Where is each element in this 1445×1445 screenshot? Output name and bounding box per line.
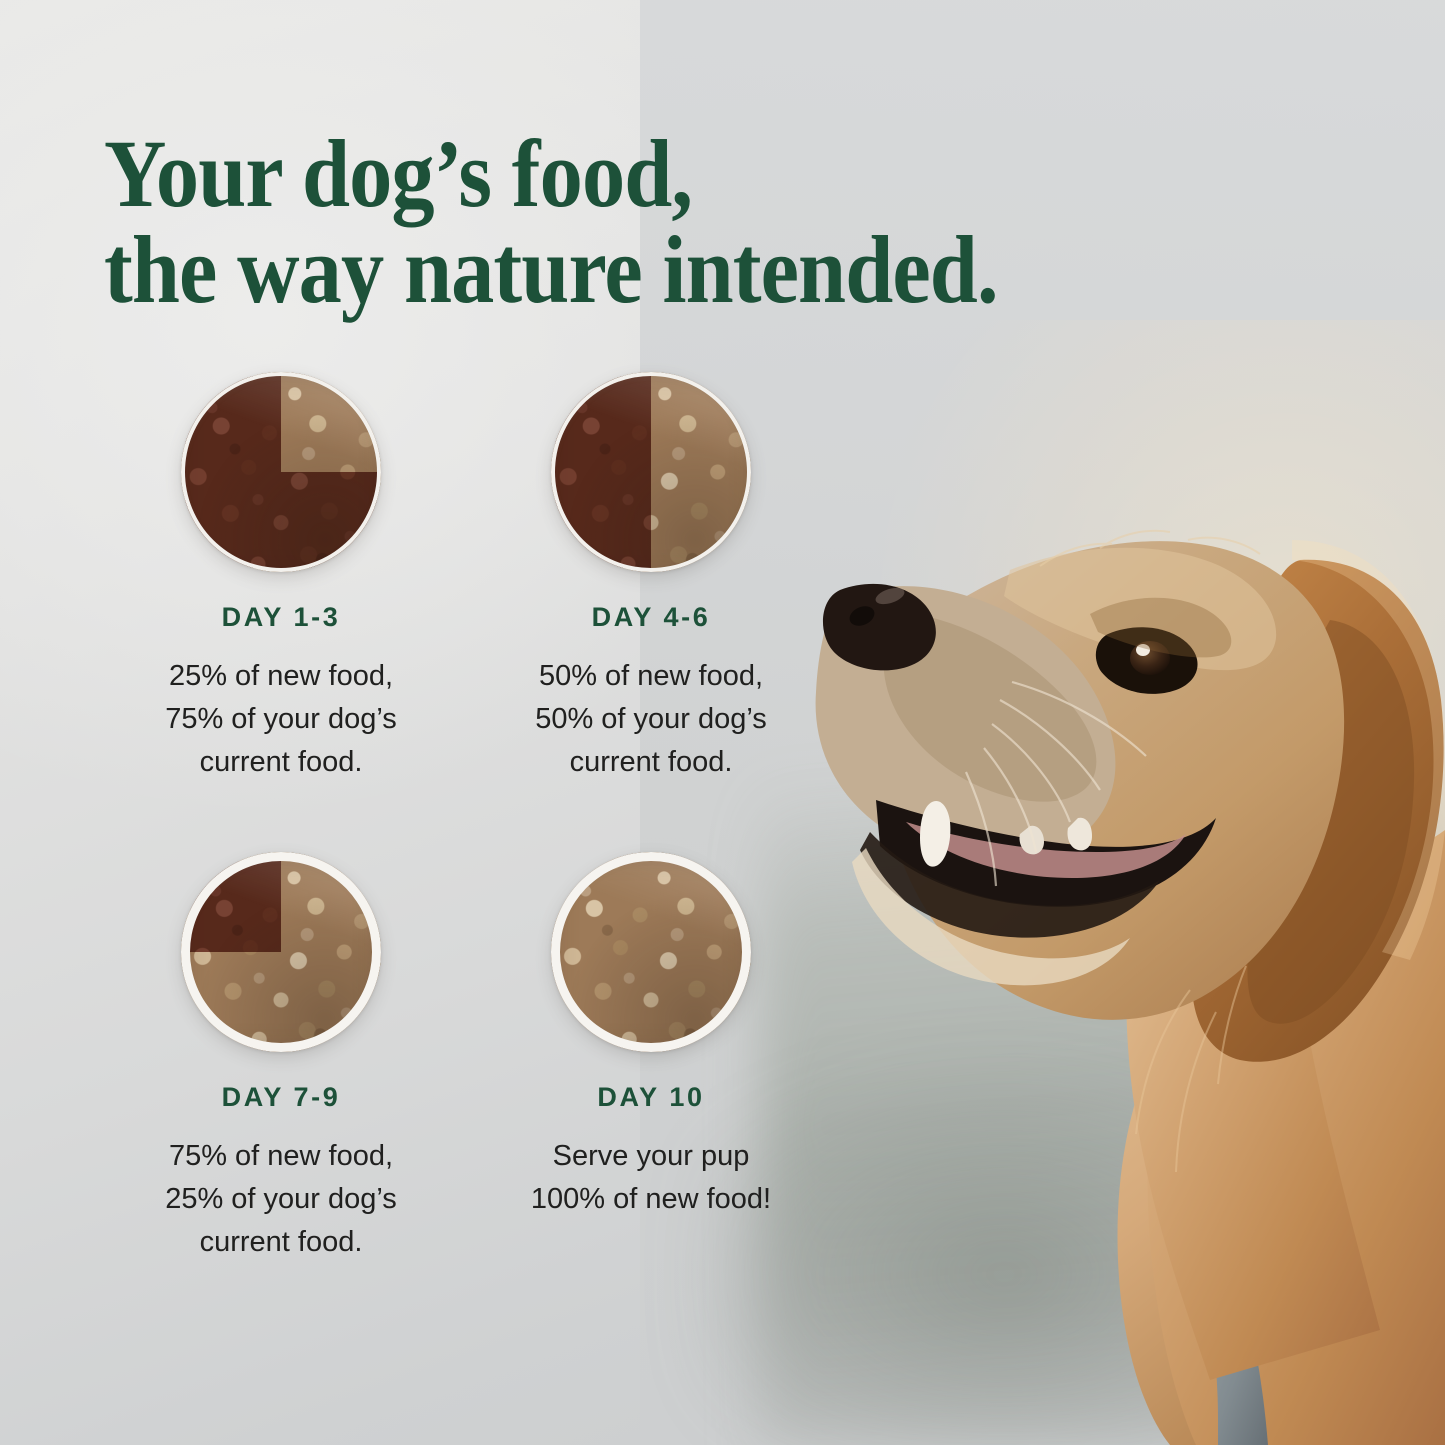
poster-canvas: Your dog’s food,the way nature intended.… <box>0 0 1445 1445</box>
transition-steps: DAY 1-3 25% of new food, 75% of your dog… <box>96 372 836 1264</box>
day-label: DAY 7-9 <box>222 1082 341 1113</box>
bowl-day-10 <box>551 852 751 1052</box>
bowl-day-7-9 <box>181 852 381 1052</box>
day-label: DAY 4-6 <box>592 602 711 633</box>
page-title: Your dog’s food,the way nature intended. <box>104 126 998 318</box>
kibble-texture <box>551 852 751 1052</box>
bowl-day-1-3 <box>181 372 381 572</box>
step-day-7-9[interactable]: DAY 7-9 75% of new food, 25% of your dog… <box>96 852 466 1264</box>
day-label: DAY 10 <box>597 1082 704 1113</box>
steps-row-1: DAY 1-3 25% of new food, 75% of your dog… <box>96 372 836 784</box>
row-spacer <box>96 784 836 852</box>
step-description: Serve your pup 100% of new food! <box>531 1135 771 1221</box>
step-day-4-6[interactable]: DAY 4-6 50% of new food, 50% of your dog… <box>466 372 836 784</box>
step-day-10[interactable]: DAY 10 Serve your pup 100% of new food! <box>466 852 836 1264</box>
bowl-day-4-6 <box>551 372 751 572</box>
step-description: 75% of new food, 25% of your dog’s curre… <box>165 1135 397 1264</box>
step-description: 25% of new food, 75% of your dog’s curre… <box>165 655 397 784</box>
day-label: DAY 1-3 <box>222 602 341 633</box>
steps-row-2: DAY 7-9 75% of new food, 25% of your dog… <box>96 852 836 1264</box>
step-day-1-3[interactable]: DAY 1-3 25% of new food, 75% of your dog… <box>96 372 466 784</box>
headline-line-2: the way nature intended. <box>104 216 998 323</box>
headline-line-1: Your dog’s food, <box>104 120 692 227</box>
step-description: 50% of new food, 50% of your dog’s curre… <box>535 655 767 784</box>
